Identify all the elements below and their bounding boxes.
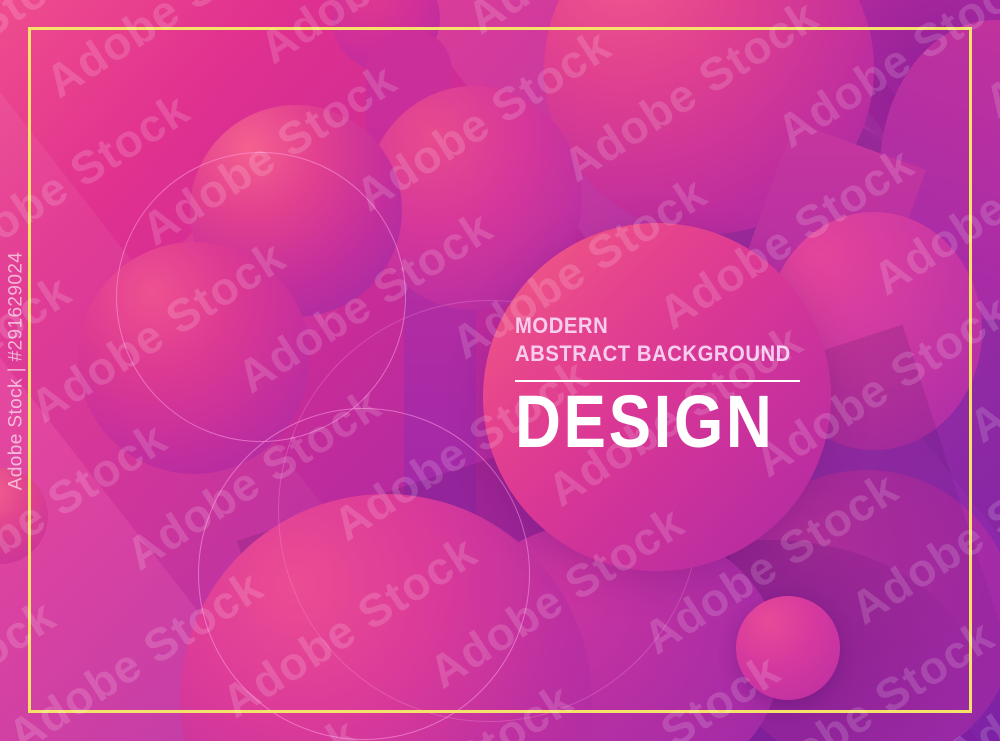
poster-canvas: MODERN ABSTRACT BACKGROUND DESIGN Adobe …	[0, 0, 1000, 741]
headline-copy-block: MODERN ABSTRACT BACKGROUND DESIGN	[515, 312, 801, 456]
headline-text: DESIGN	[515, 388, 761, 456]
blob-bottom-right-small	[736, 596, 840, 700]
kicker-line-1: MODERN	[515, 312, 778, 340]
kicker-line-2: ABSTRACT BACKGROUND	[515, 340, 778, 368]
outline-ring-lower-left	[198, 408, 530, 740]
artboard: MODERN ABSTRACT BACKGROUND DESIGN Adobe …	[0, 0, 1000, 741]
